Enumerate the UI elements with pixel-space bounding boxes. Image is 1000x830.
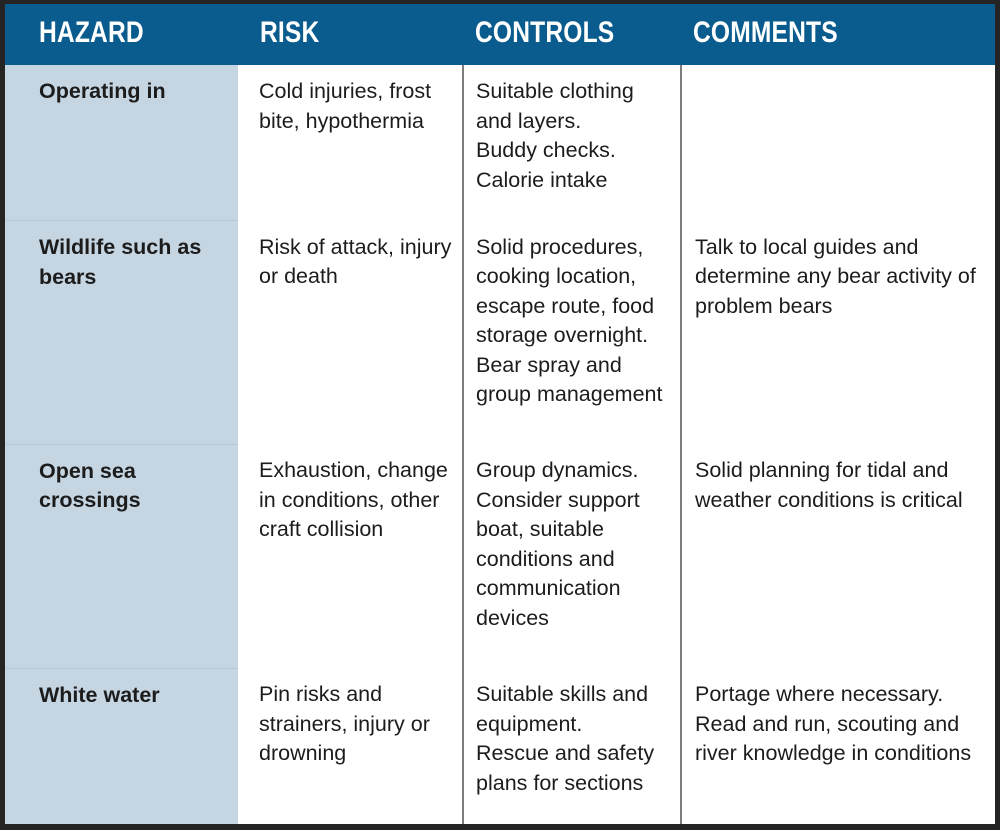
column-header-risk: RISK xyxy=(238,4,463,65)
cell-risk: Risk of attack, injury or death xyxy=(238,221,463,445)
cell-paragraph: Suitable skills and equipment. xyxy=(476,680,674,739)
column-header-controls-label: CONTROLS xyxy=(475,16,614,50)
cell-risk-text: Pin risks and strainers, injury or drown… xyxy=(259,680,454,769)
cell-paragraph: Read and run, scouting and river knowled… xyxy=(695,710,985,769)
cell-hazard: Wildlife such as bears xyxy=(5,221,238,445)
cell-hazard: Operating in xyxy=(5,65,238,221)
cell-controls-text: Suitable skills and equipment.Rescue and… xyxy=(476,680,674,798)
cell-paragraph: Consider support boat, suitable conditio… xyxy=(476,486,674,634)
cell-paragraph: Solid procedures, cooking location, esca… xyxy=(476,233,674,351)
cell-comments xyxy=(681,65,995,221)
cell-paragraph: Calorie intake xyxy=(476,166,674,196)
cell-paragraph: Bear spray and group management xyxy=(476,351,674,410)
cell-controls: Group dynamics.Consider support boat, su… xyxy=(463,444,681,668)
cell-paragraph: Portage where necessary. xyxy=(695,680,985,710)
cell-hazard-text: Open sea crossings xyxy=(39,457,224,516)
cell-paragraph: Group dynamics. xyxy=(476,456,674,486)
cell-hazard: White water xyxy=(5,668,238,824)
table-body: Operating in Cold injuries, frost bite, … xyxy=(5,65,995,824)
cell-controls-text: Group dynamics.Consider support boat, su… xyxy=(476,456,674,633)
cell-comments: Talk to local guides and determine any b… xyxy=(681,221,995,445)
cell-risk: Exhaustion, change in conditions, other … xyxy=(238,444,463,668)
table-row: Open sea crossings Exhaustion, change in… xyxy=(5,444,995,668)
cell-controls-text: Suitable clothing and layers.Buddy check… xyxy=(476,77,674,195)
column-header-hazard: HAZARD xyxy=(5,4,238,65)
cell-hazard-text: Wildlife such as bears xyxy=(39,233,224,292)
column-header-comments: COMMENTS xyxy=(681,4,995,65)
cell-hazard: Open sea crossings xyxy=(5,444,238,668)
table-row: Operating in Cold injuries, frost bite, … xyxy=(5,65,995,221)
column-header-hazard-label: HAZARD xyxy=(39,16,144,50)
table-header-row: HAZARD RISK CONTROLS COMMENTS xyxy=(5,4,995,65)
cell-risk: Cold injuries, frost bite, hypothermia xyxy=(238,65,463,221)
column-header-risk-label: RISK xyxy=(260,16,319,50)
hazard-risk-table: HAZARD RISK CONTROLS COMMENTS Operating … xyxy=(5,4,995,824)
cell-comments-text: Portage where necessary.Read and run, sc… xyxy=(695,680,985,769)
column-header-controls: CONTROLS xyxy=(463,4,681,65)
cell-hazard-text: White water xyxy=(39,681,224,711)
cell-hazard-text: Operating in xyxy=(39,77,224,107)
cell-paragraph: Buddy checks. xyxy=(476,136,674,166)
cell-risk-text: Cold injuries, frost bite, hypothermia xyxy=(259,77,454,136)
cell-comments-text: Solid planning for tidal and weather con… xyxy=(695,456,985,515)
cell-controls-text: Solid procedures, cooking location, esca… xyxy=(476,233,674,410)
cell-controls: Suitable clothing and layers.Buddy check… xyxy=(463,65,681,221)
cell-controls: Solid procedures, cooking location, esca… xyxy=(463,221,681,445)
cell-paragraph: Rescue and safety plans for sections xyxy=(476,739,674,798)
cell-paragraph: Suitable clothing and layers. xyxy=(476,77,674,136)
table-header: HAZARD RISK CONTROLS COMMENTS xyxy=(5,4,995,65)
cell-comments: Solid planning for tidal and weather con… xyxy=(681,444,995,668)
table-row: Wildlife such as bears Risk of attack, i… xyxy=(5,221,995,445)
column-header-comments-label: COMMENTS xyxy=(693,16,838,50)
cell-risk: Pin risks and strainers, injury or drown… xyxy=(238,668,463,824)
cell-comments-text: Talk to local guides and determine any b… xyxy=(695,233,985,322)
table-row: White water Pin risks and strainers, inj… xyxy=(5,668,995,824)
hazard-risk-table-container: HAZARD RISK CONTROLS COMMENTS Operating … xyxy=(0,0,1000,830)
cell-controls: Suitable skills and equipment.Rescue and… xyxy=(463,668,681,824)
cell-comments: Portage where necessary.Read and run, sc… xyxy=(681,668,995,824)
cell-risk-text: Exhaustion, change in conditions, other … xyxy=(259,456,454,545)
cell-risk-text: Risk of attack, injury or death xyxy=(259,233,454,292)
